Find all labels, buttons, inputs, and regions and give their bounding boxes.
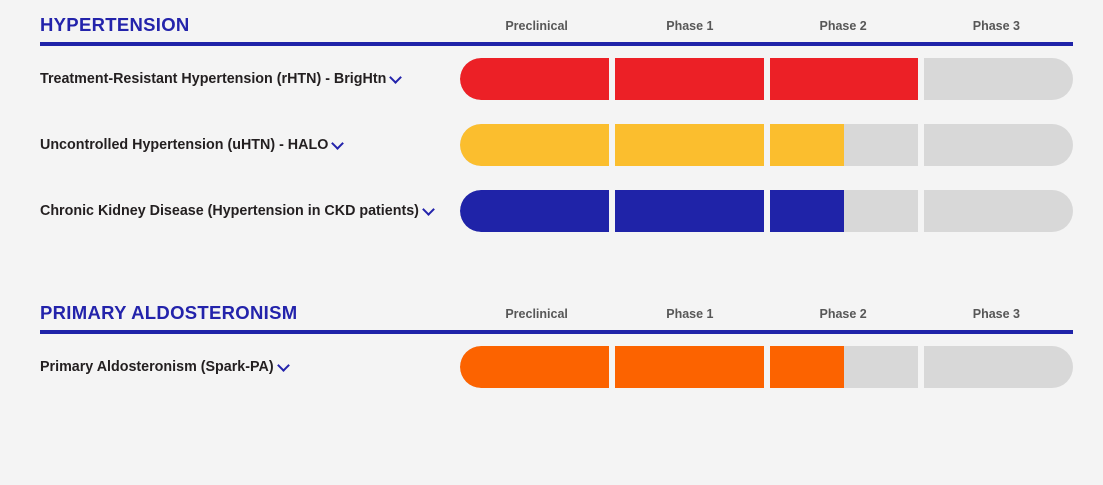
- phase-segment-fill: [460, 190, 609, 232]
- program-label-uhtn-halo: Uncontrolled Hypertension (uHTN) - HALO: [40, 135, 460, 156]
- sections-container: HYPERTENSIONPreclinicalPhase 1Phase 2Pha…: [0, 0, 1103, 400]
- phase-segment-1[interactable]: [460, 124, 609, 166]
- phase-segment-fill: [615, 346, 764, 388]
- phase-segment-fill: [770, 58, 919, 100]
- phase-segment-4[interactable]: [924, 58, 1073, 100]
- phase-segment-fill: [460, 58, 609, 100]
- phase-label-2: Phase 1: [613, 19, 766, 33]
- phase-label-3: Phase 2: [767, 307, 920, 321]
- phase-label-4: Phase 3: [920, 307, 1073, 321]
- phase-segment-3[interactable]: [770, 190, 919, 232]
- program-rows: Treatment-Resistant Hypertension (rHTN) …: [40, 46, 1073, 244]
- section-hypertension: HYPERTENSIONPreclinicalPhase 1Phase 2Pha…: [0, 0, 1103, 244]
- table-row: Chronic Kidney Disease (Hypertension in …: [40, 178, 1073, 244]
- program-label-rhtn-brightn: Treatment-Resistant Hypertension (rHTN) …: [40, 69, 460, 90]
- phase-segment-2[interactable]: [615, 124, 764, 166]
- phase-segment-fill: [615, 58, 764, 100]
- phase-segment-3[interactable]: [770, 124, 919, 166]
- progress-track-ckd: [460, 190, 1073, 232]
- phase-segment-4[interactable]: [924, 346, 1073, 388]
- phase-segment-fill: [615, 190, 764, 232]
- phase-label-3: Phase 2: [767, 19, 920, 33]
- program-rows: Primary Aldosteronism (Spark-PA): [40, 334, 1073, 400]
- section-title: HYPERTENSION: [40, 14, 190, 36]
- phase-header-row: PreclinicalPhase 1Phase 2Phase 3: [460, 307, 1073, 321]
- program-label-ckd: Chronic Kidney Disease (Hypertension in …: [40, 201, 460, 222]
- progress-track-uhtn-halo: [460, 124, 1073, 166]
- program-label-text: Uncontrolled Hypertension (uHTN) - HALO: [40, 137, 328, 153]
- phase-segment-fill: [460, 124, 609, 166]
- section-primary-aldosteronism: PRIMARY ALDOSTERONISMPreclinicalPhase 1P…: [0, 288, 1103, 400]
- program-label-spark-pa: Primary Aldosteronism (Spark-PA): [40, 357, 460, 378]
- table-row: Primary Aldosteronism (Spark-PA): [40, 334, 1073, 400]
- phase-segment-fill: [770, 346, 844, 388]
- phase-segment-2[interactable]: [615, 190, 764, 232]
- program-label-text: Chronic Kidney Disease (Hypertension in …: [40, 203, 419, 219]
- progress-track-rhtn-brightn: [460, 58, 1073, 100]
- phase-segment-fill: [770, 190, 844, 232]
- phase-label-1: Preclinical: [460, 307, 613, 321]
- section-header: PRIMARY ALDOSTERONISMPreclinicalPhase 1P…: [40, 288, 1073, 330]
- phase-segment-4[interactable]: [924, 124, 1073, 166]
- phase-label-4: Phase 3: [920, 19, 1073, 33]
- phase-segment-fill: [615, 124, 764, 166]
- phase-header-row: PreclinicalPhase 1Phase 2Phase 3: [460, 19, 1073, 33]
- progress-track-spark-pa: [460, 346, 1073, 388]
- phase-segment-3[interactable]: [770, 346, 919, 388]
- phase-segment-4[interactable]: [924, 190, 1073, 232]
- phase-segment-1[interactable]: [460, 190, 609, 232]
- pipeline-board: HYPERTENSIONPreclinicalPhase 1Phase 2Pha…: [0, 0, 1103, 485]
- chevron-down-icon[interactable]: [390, 71, 403, 84]
- chevron-down-icon[interactable]: [423, 203, 436, 216]
- section-header: HYPERTENSIONPreclinicalPhase 1Phase 2Pha…: [40, 0, 1073, 42]
- section-title: PRIMARY ALDOSTERONISM: [40, 302, 297, 324]
- program-label-text: Primary Aldosteronism (Spark-PA): [40, 359, 274, 375]
- table-row: Treatment-Resistant Hypertension (rHTN) …: [40, 46, 1073, 112]
- phase-segment-1[interactable]: [460, 346, 609, 388]
- table-row: Uncontrolled Hypertension (uHTN) - HALO: [40, 112, 1073, 178]
- phase-segment-fill: [460, 346, 609, 388]
- phase-segment-1[interactable]: [460, 58, 609, 100]
- phase-segment-2[interactable]: [615, 346, 764, 388]
- chevron-down-icon[interactable]: [332, 137, 345, 150]
- section-spacer: [0, 244, 1103, 288]
- phase-segment-fill: [770, 124, 844, 166]
- phase-label-2: Phase 1: [613, 307, 766, 321]
- phase-label-1: Preclinical: [460, 19, 613, 33]
- chevron-down-icon[interactable]: [278, 359, 291, 372]
- phase-segment-2[interactable]: [615, 58, 764, 100]
- phase-segment-3[interactable]: [770, 58, 919, 100]
- program-label-text: Treatment-Resistant Hypertension (rHTN) …: [40, 71, 386, 87]
